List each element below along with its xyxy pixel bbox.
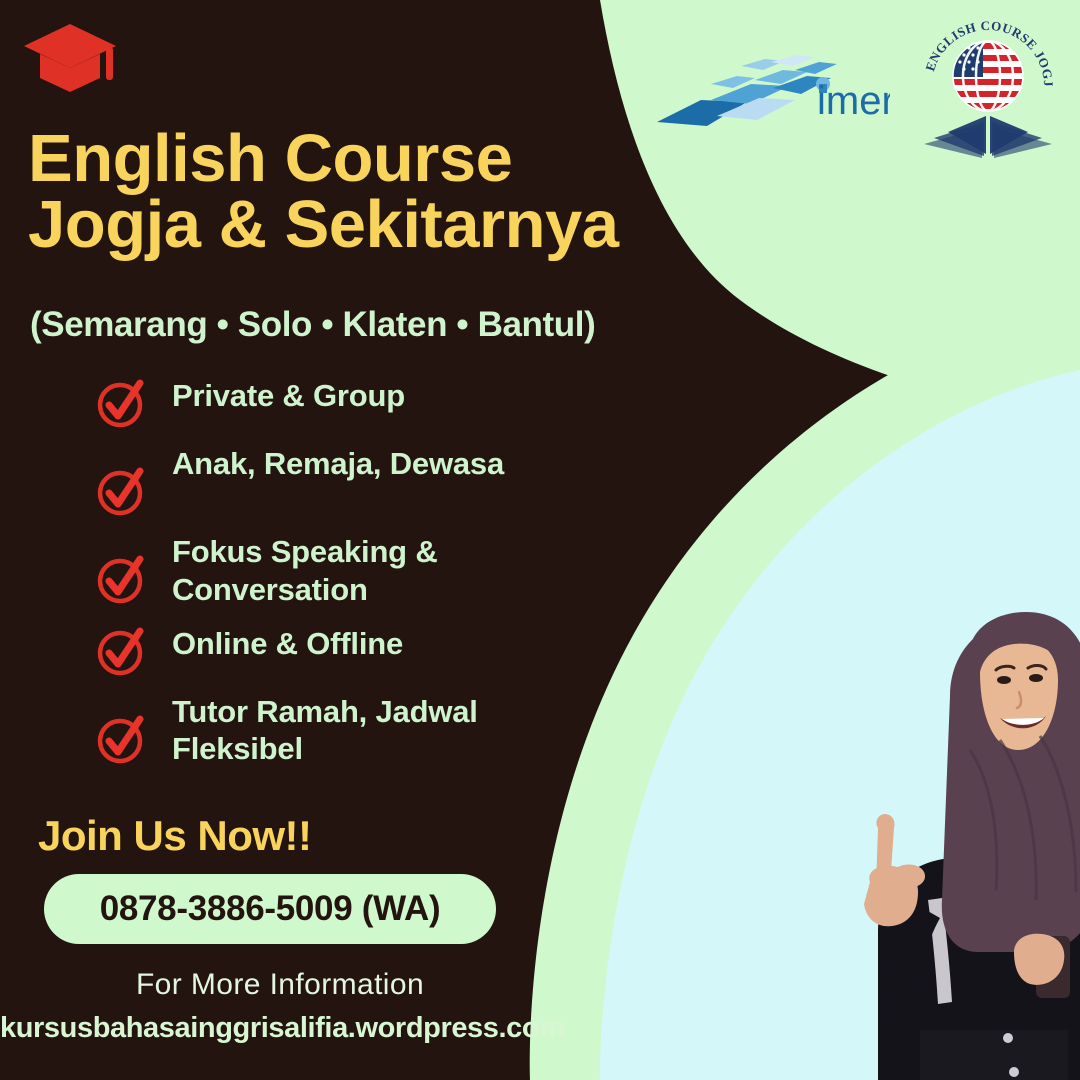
page-title: English Course Jogja & Sekitarnya bbox=[28, 126, 728, 257]
check-circle-icon bbox=[96, 625, 148, 677]
list-item-label: Anak, Remaja, Dewasa bbox=[172, 443, 504, 483]
feature-list: Private & Group Anak, Remaja, Dewasa Fok… bbox=[96, 375, 566, 782]
list-item: Private & Group bbox=[96, 375, 566, 429]
check-circle-icon bbox=[96, 713, 148, 765]
open-book-icon bbox=[924, 116, 1052, 158]
list-item-label: Private & Group bbox=[172, 375, 405, 415]
check-circle-icon bbox=[96, 465, 148, 517]
list-item: Online & Offline bbox=[96, 623, 566, 677]
list-item-label: Fokus Speaking & Conversation bbox=[172, 531, 566, 609]
list-item: Anak, Remaja, Dewasa bbox=[96, 443, 566, 517]
headline-line-2: Jogja & Sekitarnya bbox=[28, 192, 728, 258]
svg-text:imersa: imersa bbox=[817, 79, 890, 123]
more-information-label: For More Information bbox=[0, 968, 560, 1002]
join-us-heading: Join Us Now!! bbox=[38, 812, 312, 860]
graduation-cap-icon bbox=[22, 20, 118, 98]
check-circle-icon bbox=[96, 377, 148, 429]
phone-number-label: 0878-3886-5009 (WA) bbox=[100, 889, 441, 929]
imersa-logo: imersa bbox=[655, 44, 890, 136]
list-item: Fokus Speaking & Conversation bbox=[96, 531, 566, 609]
list-item-label: Tutor Ramah, Jadwal Fleksibel bbox=[172, 691, 566, 769]
avatar bbox=[800, 600, 1080, 1080]
subtitle-cities: (Semarang • Solo • Klaten • Bantul) bbox=[30, 305, 595, 345]
website-url[interactable]: kursusbahasainggrisalifia.wordpress.com bbox=[0, 1012, 560, 1045]
whatsapp-phone-button[interactable]: 0878-3886-5009 (WA) bbox=[44, 874, 496, 944]
english-course-jogja-logo: ENGLISH COURSE JOGJA bbox=[918, 14, 1058, 159]
list-item: Tutor Ramah, Jadwal Fleksibel bbox=[96, 691, 566, 769]
list-item-label: Online & Offline bbox=[172, 623, 403, 663]
headline-line-1: English Course bbox=[28, 121, 512, 196]
promotional-poster: imersa ENGLISH COURSE JOGJA bbox=[0, 0, 1080, 1080]
check-circle-icon bbox=[96, 553, 148, 605]
